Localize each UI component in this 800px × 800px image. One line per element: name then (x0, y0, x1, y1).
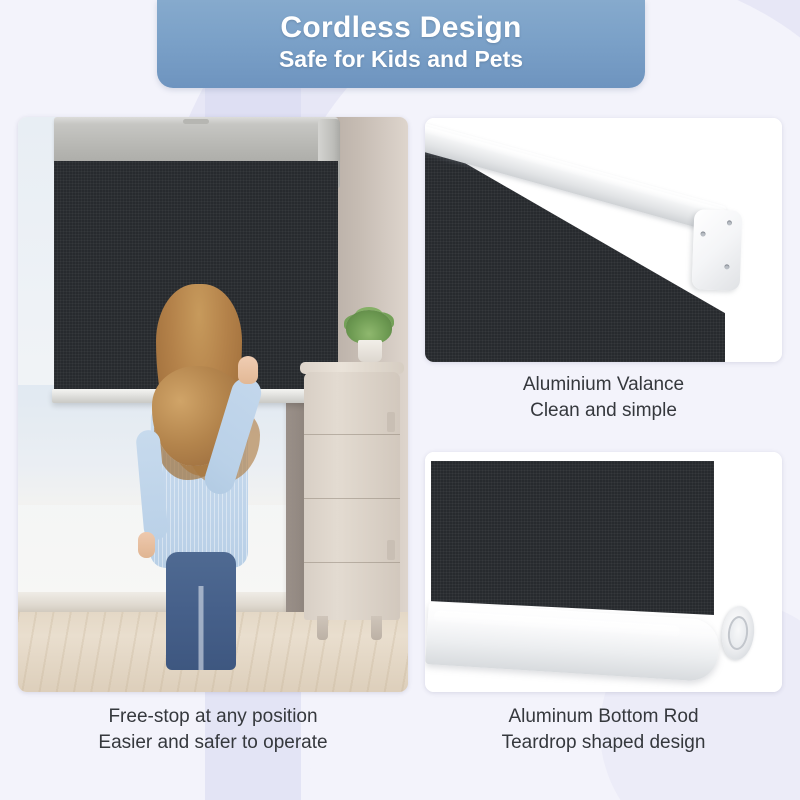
caption-bottom-rod-line1: Aluminum Bottom Rod (425, 704, 782, 730)
dresser-handle (387, 540, 395, 560)
dresser-leg (317, 616, 328, 640)
banner-subtitle: Safe for Kids and Pets (279, 46, 523, 72)
child-figure (126, 280, 276, 670)
dresser-drawer-line (304, 498, 400, 499)
header-banner: Cordless Design Safe for Kids and Pets (157, 0, 645, 88)
cordless-blind-lifestyle-photo (18, 117, 408, 692)
child-lowered-hand (138, 532, 155, 558)
bottom-rod-end-cap (719, 604, 756, 661)
child-jeans (166, 552, 236, 670)
rod-blackout-fabric (431, 461, 714, 615)
child-raised-hand (238, 356, 258, 384)
bottom-rod-end-cap-inner (726, 615, 749, 651)
dresser-leg (371, 616, 382, 640)
caption-bottom-rod-line2: Teardrop shaped design (425, 730, 782, 756)
aluminium-valance-detail-photo (425, 118, 782, 362)
room-scene (18, 117, 408, 692)
succulent-plant-leaves (346, 310, 392, 344)
product-infographic-poster: Cordless Design Safe for Kids and Pets (0, 0, 800, 800)
screw-hole (727, 220, 732, 225)
aluminum-bottom-rod (425, 602, 720, 682)
caption-lifestyle-line2: Easier and safer to operate (18, 730, 408, 756)
bottom-rod-highlight (434, 610, 680, 637)
dresser-drawer-line (304, 434, 400, 435)
dresser-drawer-line (304, 562, 400, 563)
dresser-cabinet (304, 372, 400, 620)
blind-valance (54, 117, 338, 161)
bottom-rod-scene (425, 452, 782, 692)
caption-valance-line2: Clean and simple (425, 398, 782, 424)
aluminum-bottom-rod-detail-photo (425, 452, 782, 692)
caption-lifestyle-line1: Free-stop at any position (18, 704, 408, 730)
plant-pot (358, 340, 382, 362)
caption-bottom-rod: Aluminum Bottom Rod Teardrop shaped desi… (425, 704, 782, 755)
caption-valance: Aluminium Valance Clean and simple (425, 372, 782, 423)
caption-lifestyle: Free-stop at any position Easier and saf… (18, 704, 408, 755)
screw-hole (700, 231, 705, 236)
screw-hole (724, 264, 729, 269)
dresser-handle (387, 412, 395, 432)
banner-title: Cordless Design (280, 12, 521, 44)
caption-valance-line1: Aluminium Valance (425, 372, 782, 398)
valance-end-bracket (692, 209, 743, 291)
valance-scene (425, 118, 782, 362)
